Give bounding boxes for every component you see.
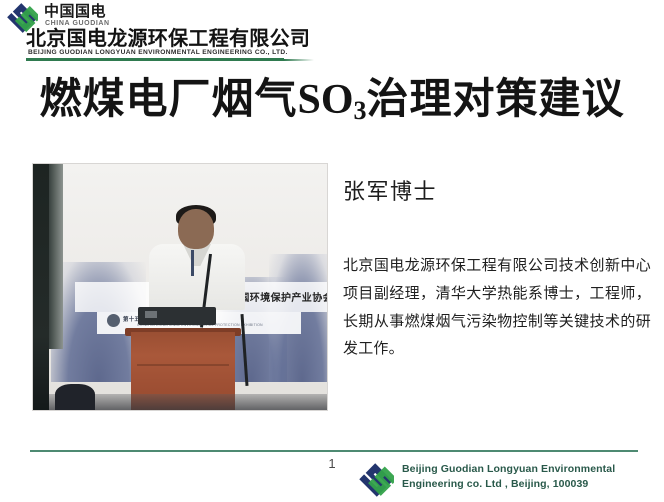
footer-brand: Beijing Guodian Longyuan Environmental E… xyxy=(358,461,658,501)
photo-podium-edge xyxy=(137,364,229,366)
photo-speaker-lanyard xyxy=(191,250,194,276)
footer-divider xyxy=(30,450,638,452)
company-name-en: BEIJING GUODIAN LONGYUAN ENVIRONMENTAL E… xyxy=(28,50,288,57)
slide-header: 中国国电 CHINA GUODIAN 北京国电龙源环保工程有限公司 BEIJIN… xyxy=(0,0,664,62)
photo-dark-edge xyxy=(33,164,49,410)
brand-name-cn: 中国国电 xyxy=(44,4,106,19)
title-part1: 燃煤电厂烟气 xyxy=(39,77,297,123)
company-name-cn: 北京国电龙源环保工程有限公司 xyxy=(26,29,310,49)
header-divider xyxy=(26,58,284,61)
slide-title: 燃煤电厂烟气SO3治理对策建议 xyxy=(0,76,664,126)
guodian-logo-icon xyxy=(358,463,394,497)
photo-banner-seal-icon xyxy=(107,314,120,327)
speaker-name: 张军博士 xyxy=(343,181,437,203)
so3-formula: SO3 xyxy=(297,77,366,123)
header-divider-tail xyxy=(284,59,314,61)
speaker-bio: 北京国电龙源环保工程有限公司技术创新中心项目副经理，清华大学热能系博士，工程师，… xyxy=(343,252,651,363)
photo-foreground-object xyxy=(55,384,95,410)
footer-text-line1: Beijing Guodian Longyuan Environmental xyxy=(402,462,615,477)
photo-laptop-screen xyxy=(145,311,157,318)
footer-text-line2: Engineering co. Ltd , Beijing, 100039 xyxy=(402,477,615,492)
brand-name-en: CHINA GUODIAN xyxy=(45,20,110,27)
title-part2: 治理对策建议 xyxy=(367,77,625,123)
footer-text: Beijing Guodian Longyuan Environmental E… xyxy=(402,462,615,492)
so3-subscript: 3 xyxy=(354,96,367,125)
speaker-at-podium-photo: 中国环境保护产业协会 第十五届中国环境博览会 CHINA INTERNATION… xyxy=(33,164,327,410)
photo-speaker-head xyxy=(178,209,214,249)
so3-main: SO xyxy=(297,77,353,123)
